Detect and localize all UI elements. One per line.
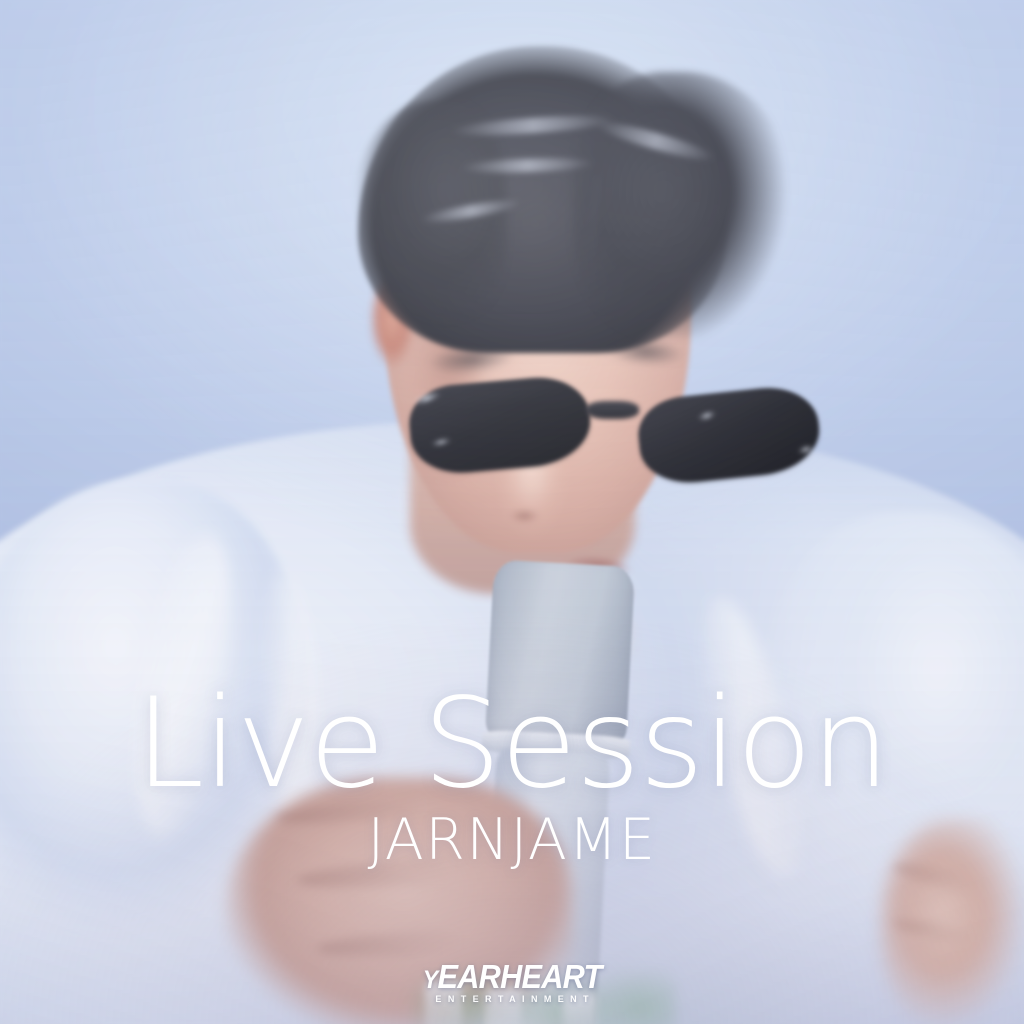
sunglasses [410, 374, 820, 487]
lens-glint [797, 445, 814, 454]
subtitle-artist-name: JARNJAME [0, 812, 1024, 869]
lens-glint [698, 410, 717, 420]
logo-accent-letter: H [500, 958, 521, 995]
logo-wordmark: YEARHEART [423, 960, 602, 993]
logo-part-two: EART [521, 958, 601, 995]
title-block: Live Session JARNJAME [0, 682, 1024, 869]
sunglasses-bridge [586, 401, 639, 419]
lens-glint [431, 438, 451, 447]
nostril [504, 506, 545, 526]
sunglasses-left-lens [406, 373, 593, 476]
title-live-session: Live Session [0, 682, 1024, 806]
lens-glint [412, 390, 441, 405]
logo-tagline: ENTERTAINMENT [0, 995, 1024, 1004]
yearheart-logo: YEARHEART ENTERTAINMENT [0, 960, 1024, 1004]
logo-lead-letter: Y [423, 966, 438, 994]
live-session-thumbnail: Live Session JARNJAME YEARHEART ENTERTAI… [0, 0, 1024, 1024]
sunglasses-right-lens [635, 383, 823, 487]
logo-part-one: EAR [437, 958, 500, 995]
